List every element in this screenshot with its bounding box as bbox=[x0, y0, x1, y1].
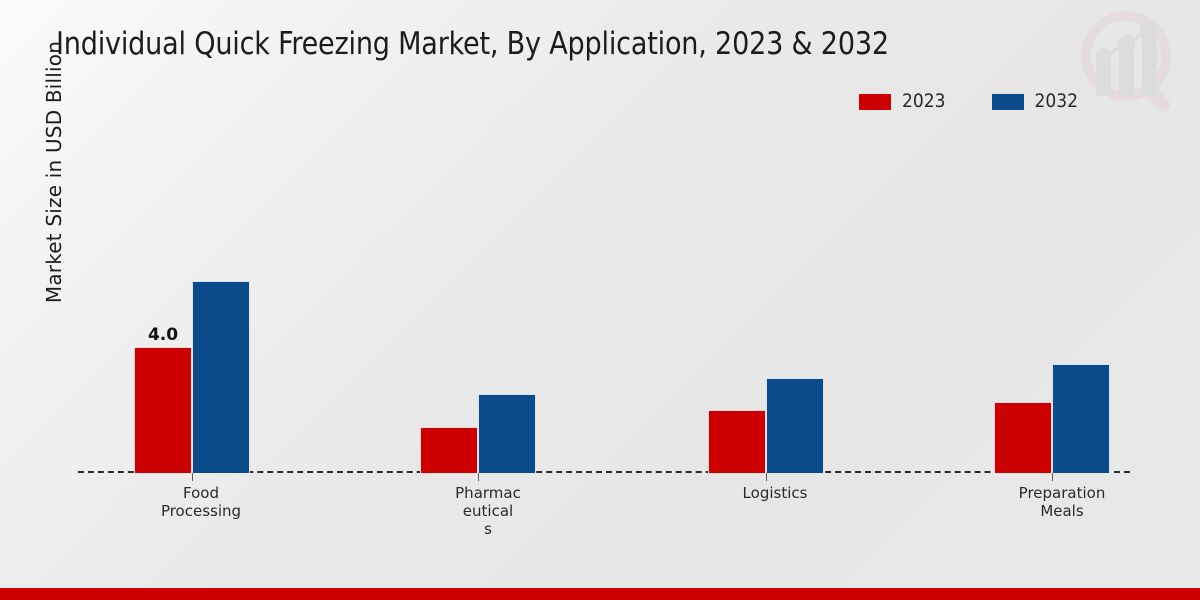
y-axis-title: Market Size in USD Billion bbox=[42, 12, 66, 332]
x-tick-logistics bbox=[766, 473, 767, 481]
bar-pair bbox=[994, 364, 1110, 473]
bar-group-logistics bbox=[708, 140, 824, 473]
bar-2032-food-processing[interactable] bbox=[192, 281, 250, 473]
x-tick-food-processing bbox=[192, 473, 193, 481]
legend-swatch-2023 bbox=[859, 94, 891, 110]
bar-pair: 4.0 bbox=[134, 281, 250, 473]
x-axis-label-logistics: Logistics bbox=[675, 484, 875, 502]
x-axis-label-line: Logistics bbox=[675, 484, 875, 502]
bar-2023-pharmaceuticals[interactable] bbox=[420, 427, 478, 473]
x-axis-label-line: Processing bbox=[101, 502, 301, 520]
x-axis-label-line: eutical bbox=[388, 502, 588, 520]
bar-2032-preparation-meals[interactable] bbox=[1052, 364, 1110, 473]
legend-item-2032[interactable]: 2032 bbox=[992, 92, 1079, 111]
bar-pair bbox=[708, 378, 824, 473]
footer-accent-bar bbox=[0, 588, 1200, 600]
x-axis-label-pharmaceuticals: Pharmac eutical s bbox=[388, 484, 588, 538]
bar-2023-food-processing[interactable]: 4.0 bbox=[134, 347, 192, 473]
bar-2023-logistics[interactable] bbox=[708, 410, 766, 473]
bar-pair bbox=[420, 394, 536, 473]
bar-value-label-2023-food-processing: 4.0 bbox=[134, 325, 192, 345]
chart-legend: 2023 2032 bbox=[859, 92, 1078, 111]
legend-label-2032: 2032 bbox=[1035, 92, 1079, 111]
bar-group-pharmaceuticals bbox=[420, 140, 536, 473]
x-axis-label-line: Food bbox=[101, 484, 301, 502]
plot-area: 4.0 bbox=[78, 140, 1130, 473]
legend-label-2023: 2023 bbox=[902, 92, 946, 111]
x-axis-label-food-processing: Food Processing bbox=[101, 484, 301, 520]
chart-canvas: Individual Quick Freezing Market, By App… bbox=[0, 0, 1200, 600]
x-axis-label-line: Preparation bbox=[962, 484, 1162, 502]
x-axis-label-preparation-meals: Preparation Meals bbox=[962, 484, 1162, 520]
x-tick-preparation-meals bbox=[1052, 473, 1053, 481]
watermark-logo-icon bbox=[1074, 8, 1194, 118]
bar-2032-pharmaceuticals[interactable] bbox=[478, 394, 536, 473]
bar-group-food-processing: 4.0 bbox=[134, 140, 250, 473]
x-axis-label-line: Meals bbox=[962, 502, 1162, 520]
chart-title: Individual Quick Freezing Market, By App… bbox=[56, 26, 889, 62]
bar-group-preparation-meals bbox=[994, 140, 1110, 473]
x-axis-label-line: s bbox=[388, 520, 588, 538]
bar-2023-preparation-meals[interactable] bbox=[994, 402, 1052, 473]
x-axis-label-line: Pharmac bbox=[388, 484, 588, 502]
x-tick-pharmaceuticals bbox=[478, 473, 479, 481]
legend-swatch-2032 bbox=[992, 94, 1024, 110]
legend-item-2023[interactable]: 2023 bbox=[859, 92, 946, 111]
bar-2032-logistics[interactable] bbox=[766, 378, 824, 473]
